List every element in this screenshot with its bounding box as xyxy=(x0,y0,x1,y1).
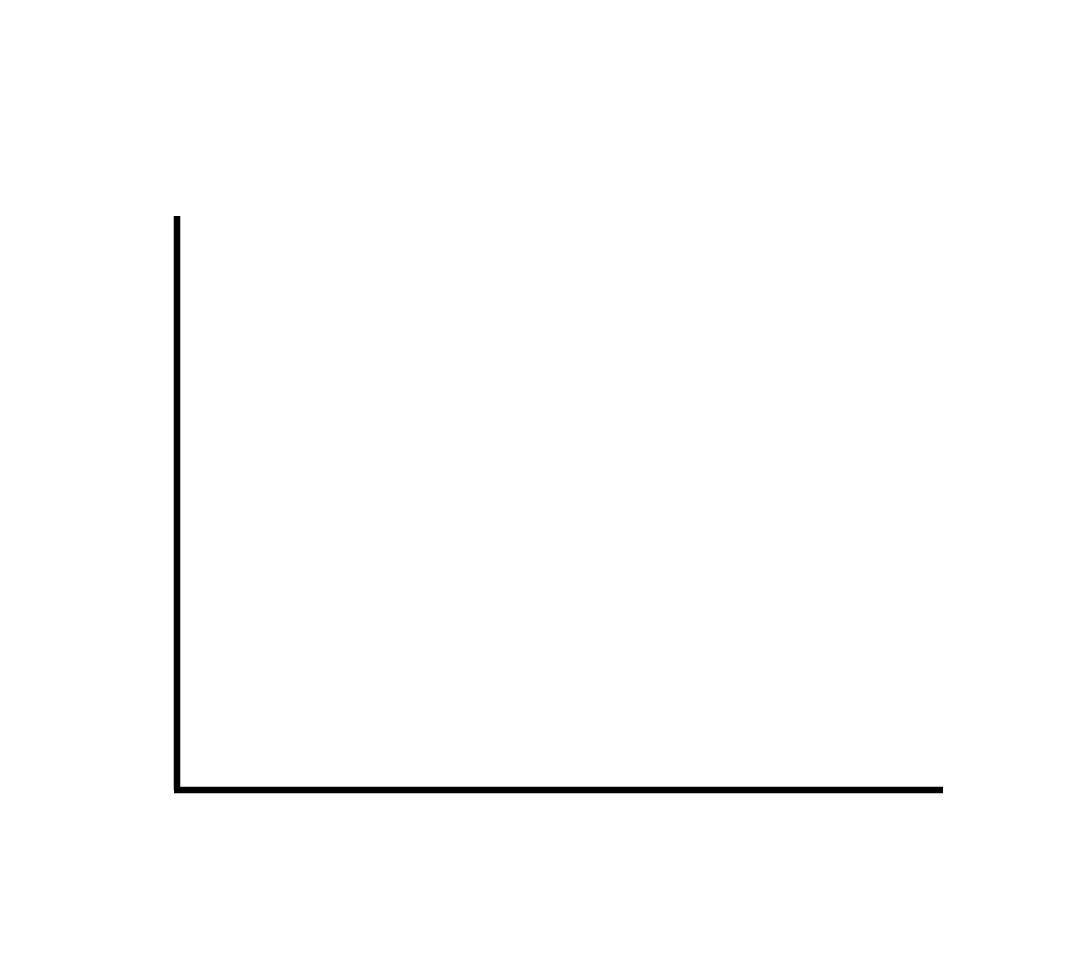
axes xyxy=(174,216,943,790)
chart-figure xyxy=(0,0,1080,955)
plot-area xyxy=(0,0,1080,955)
